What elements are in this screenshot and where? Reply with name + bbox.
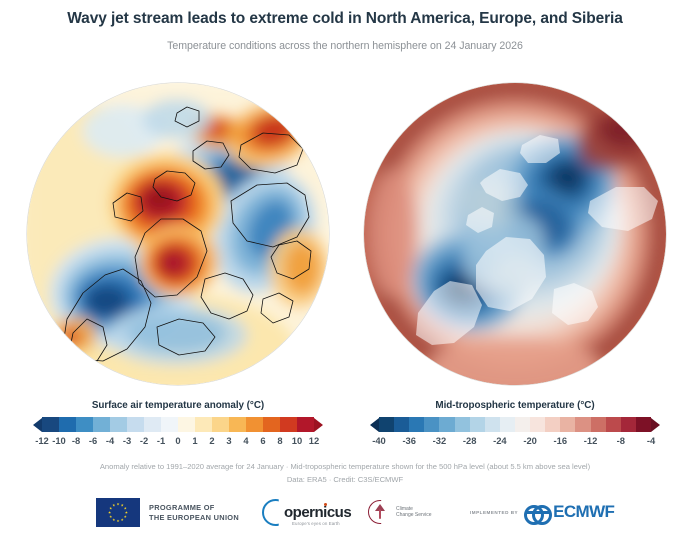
colorbar-tick-label: 12 bbox=[309, 435, 319, 446]
colorbar-extend-high-right bbox=[651, 418, 660, 432]
colorbar-cell bbox=[379, 417, 394, 432]
colorbar-cell bbox=[212, 417, 229, 432]
colorbar-extend-low-right bbox=[370, 418, 379, 432]
colorbar-cell bbox=[229, 417, 246, 432]
logo-climate-change-service: Climate Change Service bbox=[368, 500, 432, 524]
colorbar-tick-label: -10 bbox=[52, 435, 66, 446]
colorbar-tick-label: -3 bbox=[123, 435, 131, 446]
eu-logo-line2: THE EUROPEAN UNION bbox=[149, 513, 239, 523]
colorbar-cell bbox=[394, 417, 409, 432]
eu-logo-line1: PROGRAMME OF bbox=[149, 503, 239, 513]
colorbar-cell bbox=[161, 417, 178, 432]
implemented-by-label: IMPLEMENTED BY bbox=[470, 510, 518, 515]
colorbar-cell bbox=[591, 417, 606, 432]
colorbar-cell bbox=[500, 417, 515, 432]
logo-ecmwf: IMPLEMENTED BY ECMWF bbox=[470, 502, 614, 522]
colorbar-cell bbox=[424, 417, 439, 432]
colorbar-cell bbox=[178, 417, 195, 432]
colorbar-cell bbox=[530, 417, 545, 432]
colorbar-title-left: Surface air temperature anomaly (°C) bbox=[20, 400, 336, 411]
copernicus-word-text: opernicus bbox=[284, 504, 351, 521]
copernicus-wordmark: opernicus bbox=[284, 504, 351, 521]
colorbar-cell bbox=[470, 417, 485, 432]
colorbar-extend-low-left bbox=[33, 418, 42, 432]
colorbar-cell bbox=[575, 417, 590, 432]
colorbar-labels-right: -40-36-32-28-24-20-16-12-8-4 bbox=[357, 435, 673, 449]
ecmwf-wordmark: ECMWF bbox=[553, 502, 614, 522]
colorbar-cell bbox=[297, 417, 314, 432]
colorbar-tick-label: -32 bbox=[433, 435, 447, 446]
colorbar-labels-left: -12-10-8-6-4-3-2-101234681012 bbox=[20, 435, 336, 449]
map-surface-air-temperature-anomaly bbox=[27, 83, 329, 385]
colorbar-cell bbox=[439, 417, 454, 432]
colorbar-tick-label: 8 bbox=[277, 435, 282, 446]
colorbar-mid-tropospheric: Mid-tropospheric temperature (°C) -40-36… bbox=[357, 400, 673, 449]
colorbar-tick-label: -12 bbox=[584, 435, 598, 446]
copernicus-tagline: Europe's eyes on Earth bbox=[292, 521, 340, 526]
colorbar-tick-label: -12 bbox=[35, 435, 49, 446]
colorbar-cell bbox=[195, 417, 212, 432]
colorbar-tick-label: -20 bbox=[523, 435, 537, 446]
c3s-logo-line2: Change Service bbox=[396, 512, 432, 518]
colorbar-cell bbox=[42, 417, 59, 432]
colorbar-tick-label: -6 bbox=[89, 435, 97, 446]
colorbar-extend-high-left bbox=[314, 418, 323, 432]
colorbar-cell bbox=[485, 417, 500, 432]
coastlines bbox=[27, 83, 329, 385]
colorbar-tick-label: 6 bbox=[260, 435, 265, 446]
colorbar-tick-label: -40 bbox=[372, 435, 386, 446]
footnote-credit: Data: ERA5 · Credit: C3S/ECMWF bbox=[0, 475, 690, 484]
colorbar-cell bbox=[606, 417, 621, 432]
colorbar-cell bbox=[636, 417, 651, 432]
colorbar-cell bbox=[621, 417, 636, 432]
colorbar-tick-label: -36 bbox=[402, 435, 416, 446]
colorbar-tick-label: -24 bbox=[493, 435, 507, 446]
colorbar-title-right: Mid-tropospheric temperature (°C) bbox=[357, 400, 673, 411]
colorbar-tick-label: -8 bbox=[617, 435, 625, 446]
ecmwf-mark-icon bbox=[524, 504, 550, 520]
colorbar-cells-right bbox=[379, 417, 651, 432]
map-mid-tropospheric-temperature bbox=[364, 83, 666, 385]
colorbar-cell bbox=[93, 417, 110, 432]
colorbar-tick-label: 4 bbox=[243, 435, 248, 446]
colorbar-cell bbox=[110, 417, 127, 432]
c3s-logo-text: Climate Change Service bbox=[396, 506, 432, 519]
colorbar-cell bbox=[246, 417, 263, 432]
eu-flag-icon bbox=[96, 498, 140, 527]
colorbar-tick-label: 2 bbox=[209, 435, 214, 446]
colorbar-tick-label: -4 bbox=[647, 435, 655, 446]
colorbar-tick-label: -2 bbox=[140, 435, 148, 446]
c3s-icon bbox=[368, 500, 392, 524]
page-title: Wavy jet stream leads to extreme cold in… bbox=[0, 10, 690, 28]
logo-bar: PROGRAMME OF THE EUROPEAN UNION opernicu… bbox=[0, 496, 690, 532]
eu-logo-text: PROGRAMME OF THE EUROPEAN UNION bbox=[149, 503, 239, 523]
colorbar-tick-label: 1 bbox=[192, 435, 197, 446]
colorbar-tick-label: -8 bbox=[72, 435, 80, 446]
colorbar-cell bbox=[263, 417, 280, 432]
colorbar-cell bbox=[455, 417, 470, 432]
logo-copernicus: opernicus Europe's eyes on Earth bbox=[262, 499, 351, 526]
colorbar-cell bbox=[515, 417, 530, 432]
colorbar-cell bbox=[280, 417, 297, 432]
colorbar-tick-label: -16 bbox=[554, 435, 568, 446]
colorbar-tick-label: -28 bbox=[463, 435, 477, 446]
colorbar-cell bbox=[144, 417, 161, 432]
colorbar-tick-label: -4 bbox=[106, 435, 114, 446]
colorbar-surface-anomaly: Surface air temperature anomaly (°C) -12… bbox=[20, 400, 336, 449]
colorbar-cell bbox=[545, 417, 560, 432]
colorbar-tick-label: 0 bbox=[175, 435, 180, 446]
footnote-methodology: Anomaly relative to 1991–2020 average fo… bbox=[0, 462, 690, 471]
colorbar-cell bbox=[409, 417, 424, 432]
infographic-root: Wavy jet stream leads to extreme cold in… bbox=[0, 0, 690, 535]
coastlines bbox=[364, 83, 666, 385]
colorbar-cell bbox=[59, 417, 76, 432]
colorbar-cell bbox=[76, 417, 93, 432]
colorbar-cell bbox=[560, 417, 575, 432]
colorbar-tick-label: -1 bbox=[157, 435, 165, 446]
logo-european-union: PROGRAMME OF THE EUROPEAN UNION bbox=[96, 498, 239, 527]
colorbar-cells-left bbox=[42, 417, 314, 432]
colorbar-tick-label: 10 bbox=[292, 435, 302, 446]
page-subtitle: Temperature conditions across the northe… bbox=[0, 40, 690, 52]
colorbar-cell bbox=[127, 417, 144, 432]
colorbar-tick-label: 3 bbox=[226, 435, 231, 446]
